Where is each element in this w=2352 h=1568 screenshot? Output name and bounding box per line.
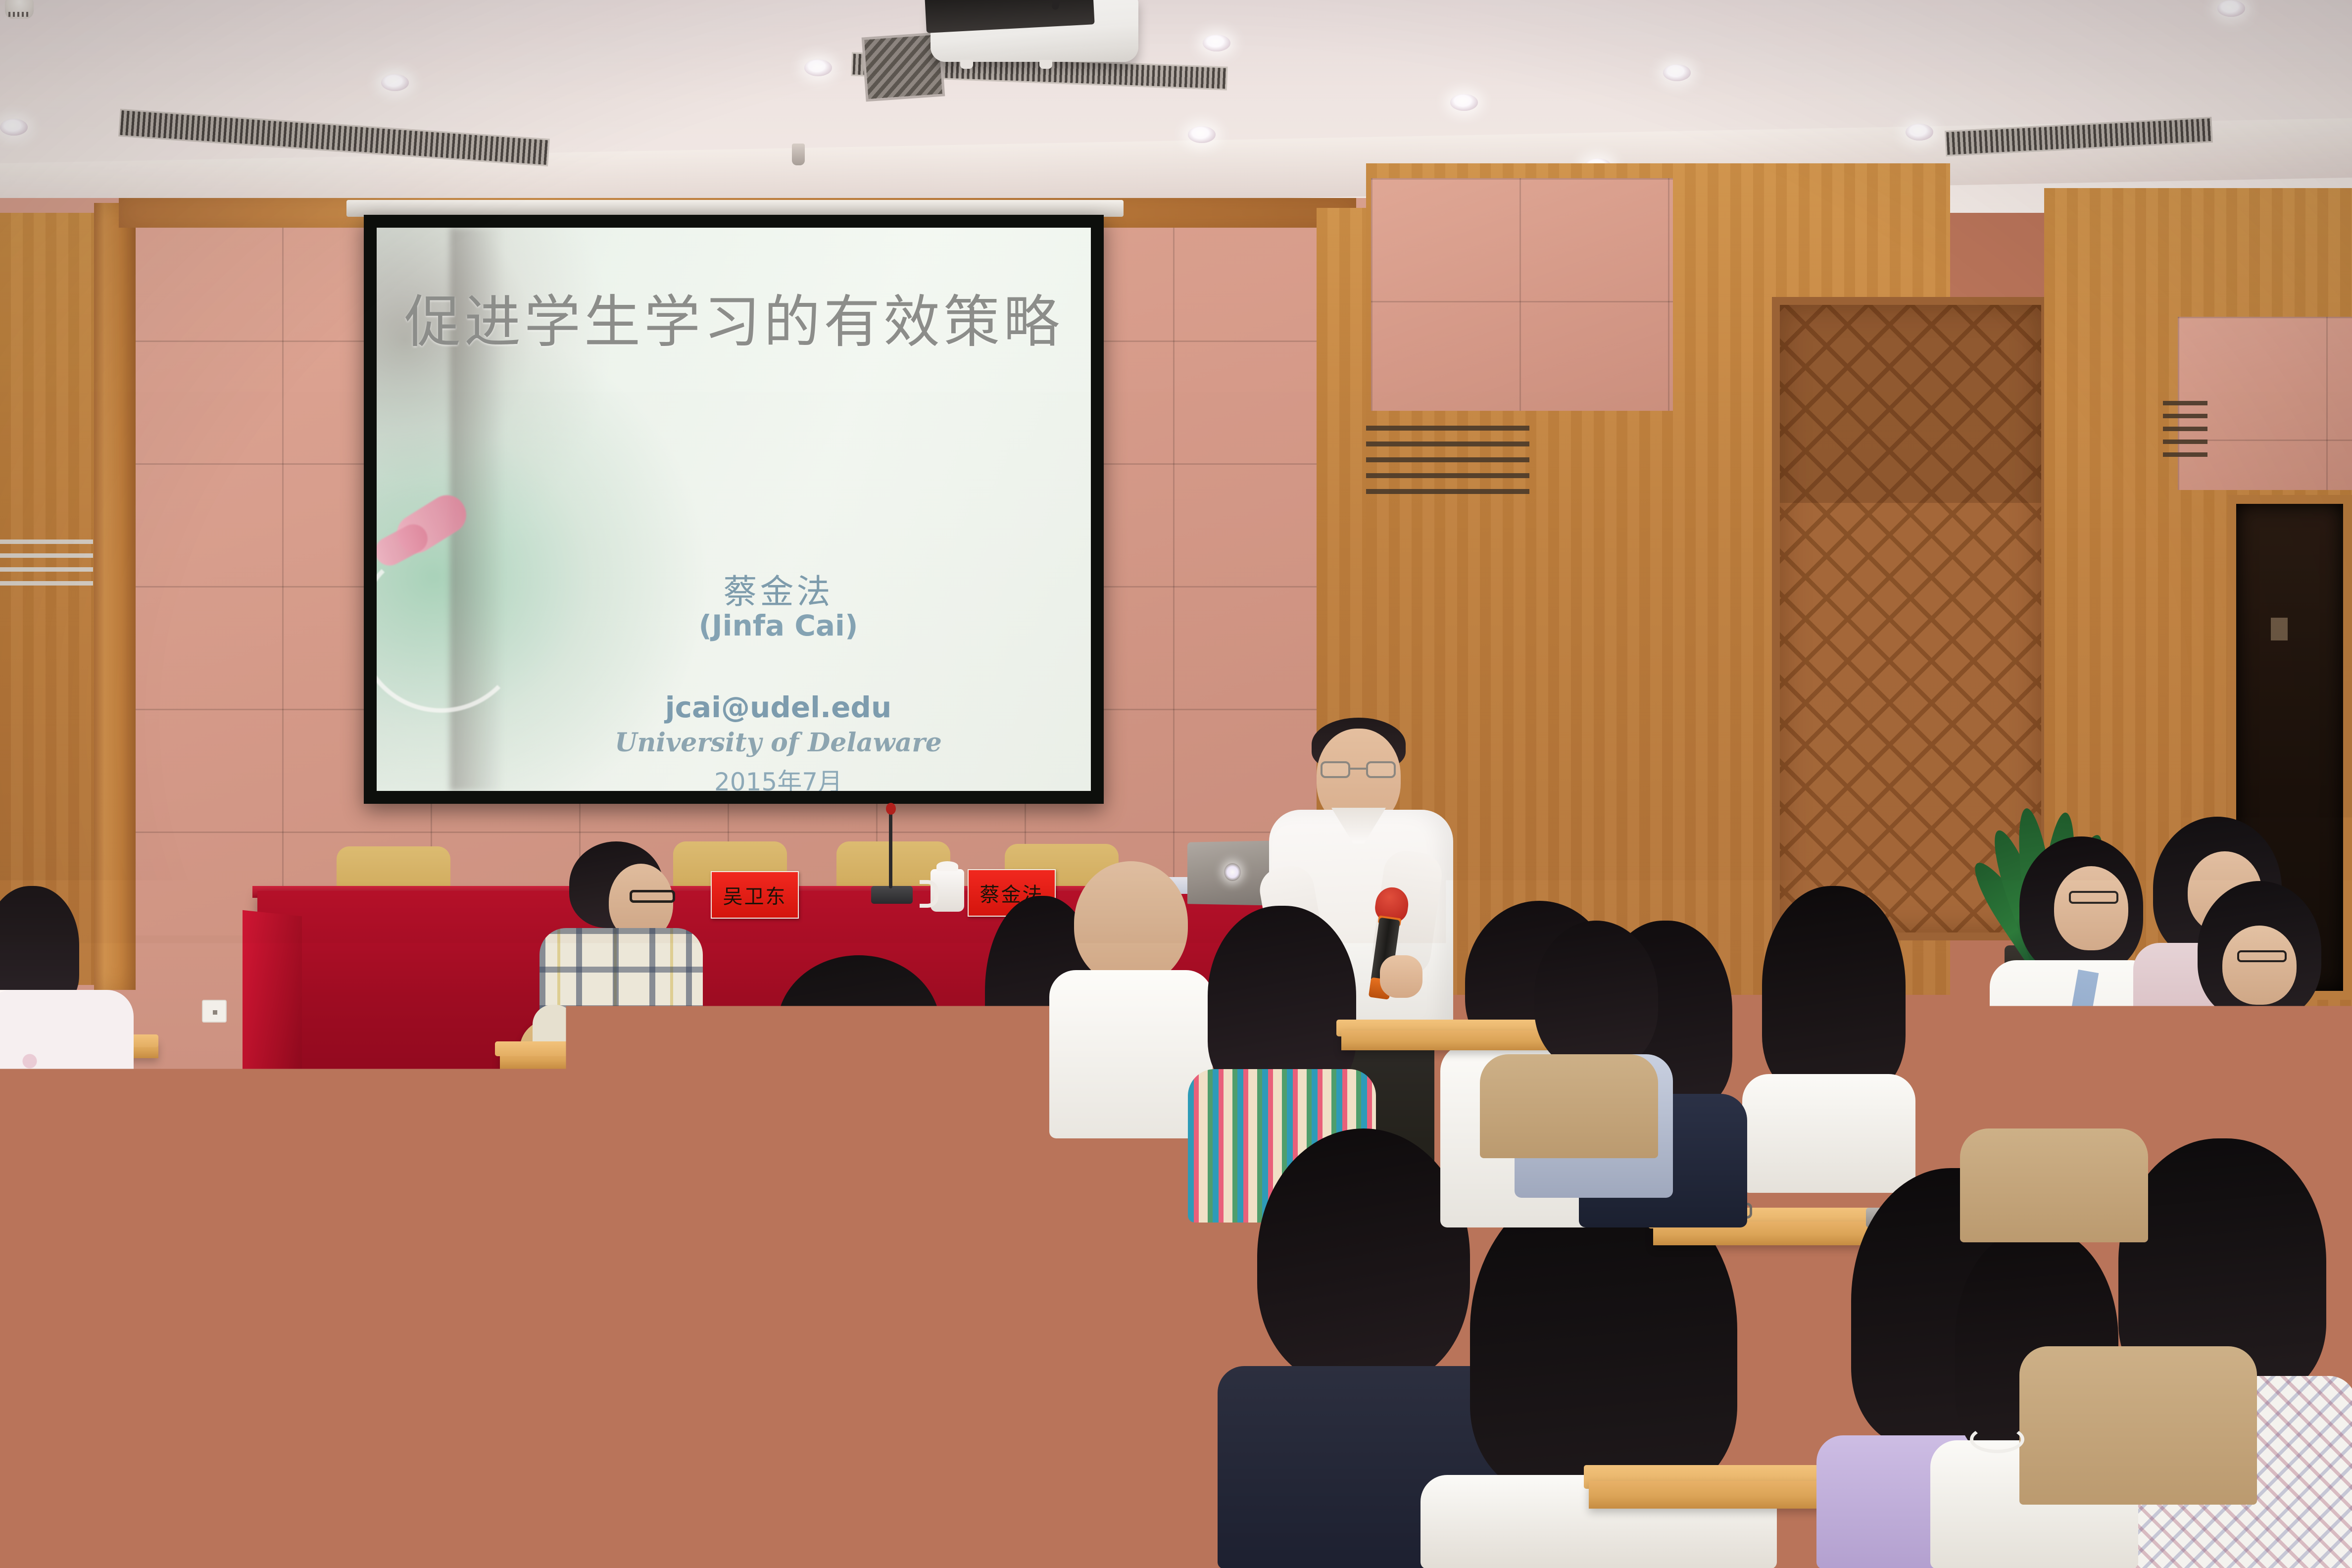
- person-hair: [1534, 921, 1658, 1069]
- desk-leg: [134, 1208, 147, 1371]
- projector-foot: [960, 60, 973, 69]
- screen-roller-housing: [346, 200, 1124, 217]
- door-hinge: [2271, 618, 2288, 640]
- person-hair: [965, 1198, 1173, 1381]
- slide-author-english: (Jinfa Cai): [466, 609, 1091, 642]
- slide-date: 2015年7月: [466, 762, 1091, 791]
- downlight-icon: [1203, 35, 1230, 51]
- audience-member: [0, 1297, 119, 1568]
- glasses-icon: [630, 890, 675, 903]
- projector-foot: [1039, 60, 1052, 69]
- person-hair: [777, 955, 940, 1099]
- projection-screen-frame: 促进学生学习的有效策略 蔡金法 (Jinfa Cai) jcai@udel.ed…: [364, 215, 1104, 804]
- earbuds-on-desk[interactable]: [1970, 1425, 2024, 1453]
- earbuds-on-desk[interactable]: [59, 1252, 107, 1276]
- head-table-drape: [243, 910, 302, 1174]
- smoke-detector-icon: [5, 0, 34, 19]
- desk-top: [495, 1041, 713, 1056]
- metal-accent-stripes: [0, 539, 93, 593]
- acoustic-panel-grid: [1371, 178, 1673, 411]
- downlight-icon: [381, 74, 409, 91]
- person-head: [1074, 861, 1188, 985]
- wood-pilaster: [94, 203, 136, 990]
- projector-lens-housing: [925, 0, 1094, 33]
- name-card-wu-weidong: 吴卫东: [711, 871, 799, 919]
- person-hair: [1307, 1356, 1604, 1568]
- audience-member-plaid: [539, 841, 708, 1148]
- chair[interactable]: [1480, 1054, 1658, 1158]
- person-head: [2222, 926, 2297, 1005]
- apple-logo-icon: [1224, 863, 1240, 881]
- projection-screen-surface: 促进学生学习的有效策略 蔡金法 (Jinfa Cai) jcai@udel.ed…: [377, 228, 1091, 791]
- chair[interactable]: [2019, 1346, 2257, 1505]
- desk-leg: [139, 1381, 153, 1568]
- wall-outlet: [202, 1000, 227, 1023]
- chair[interactable]: [1960, 1128, 2148, 1242]
- person-torso: [0, 990, 134, 1168]
- desk-leg: [629, 1361, 645, 1568]
- slide-university: University of Delaware: [466, 728, 1091, 758]
- downlight-icon: [804, 59, 832, 76]
- downlight-icon: [0, 119, 28, 136]
- dark-accent-stripes: [2163, 401, 2207, 465]
- phone-on-desk[interactable]: [0, 1218, 33, 1234]
- lattice-shadow: [1780, 305, 2041, 503]
- downlight-icon: [1450, 94, 1478, 111]
- sprinkler-icon: [792, 144, 805, 165]
- slide-title: 促进学生学习的有效策略: [377, 291, 1091, 353]
- person-head: [2054, 866, 2128, 950]
- audience-member-right-4: [1990, 836, 2158, 1158]
- person-hair: [1762, 886, 1906, 1094]
- teacup: [931, 869, 964, 912]
- desk-top: [0, 1192, 158, 1206]
- downlight-icon: [1663, 64, 1691, 81]
- audience-member-left-floral: [0, 891, 153, 1168]
- glasses-lens-left: [1321, 761, 1350, 778]
- glasses-bridge: [1350, 768, 1366, 770]
- slide-email: jcai@udel.edu: [466, 690, 1091, 724]
- audience-member-foreground-head: [1267, 1356, 1643, 1568]
- slide-author-chinese: 蔡金法: [466, 564, 1091, 613]
- dark-accent-stripes: [1366, 426, 1529, 495]
- speaker-right-hand: [1380, 955, 1422, 998]
- person-torso: [0, 1376, 89, 1568]
- desk-leg: [525, 1203, 539, 1411]
- downlight-icon: [2217, 0, 2245, 17]
- ceiling-projector: [931, 0, 1138, 62]
- audience-member-right-1: [1742, 886, 1920, 1193]
- glasses-lens-right: [1366, 761, 1396, 778]
- glasses-icon: [2069, 891, 2118, 904]
- downlight-icon: [1188, 126, 1216, 143]
- person-hair: [1208, 906, 1356, 1094]
- lecture-hall-photo: 促进学生学习的有效策略 蔡金法 (Jinfa Cai) jcai@udel.ed…: [0, 0, 2352, 1568]
- glasses-icon: [2237, 950, 2287, 962]
- gooseneck-microphone[interactable]: [871, 886, 913, 904]
- speaker-glasses-icon: [1321, 761, 1396, 778]
- wood-wall-panel: [0, 213, 94, 985]
- downlight-icon: [1906, 124, 1933, 141]
